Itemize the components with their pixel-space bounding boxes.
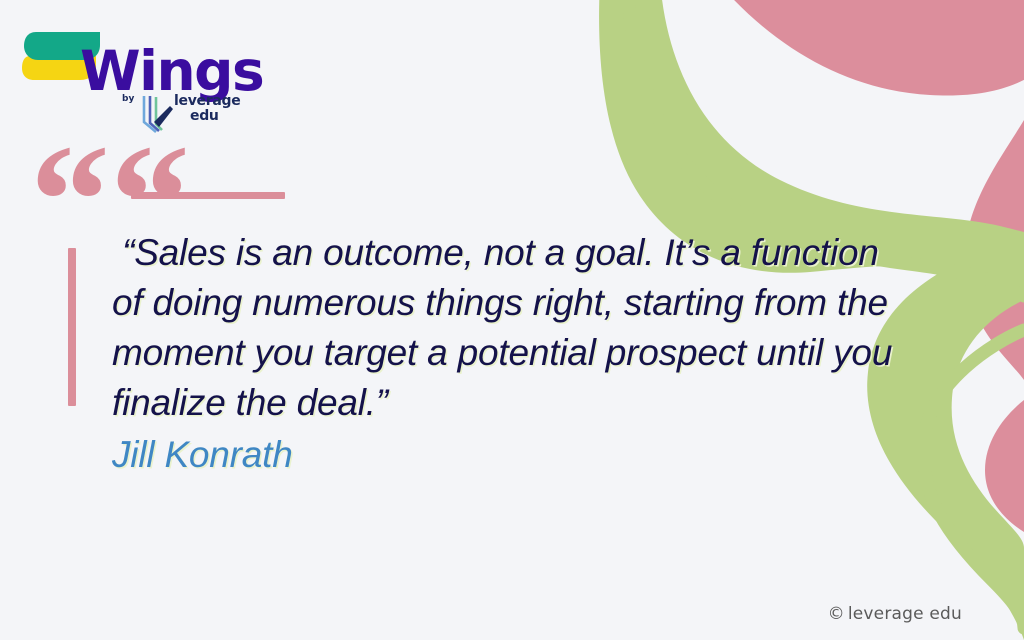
pink-blob-shape [700,0,1024,96]
pink-blob-shape-bottom [985,400,1024,532]
quote-author: Jill Konrath [112,430,902,480]
copyright-watermark: ©leverage edu [828,604,962,624]
watermark-label: leverage edu [848,604,962,624]
logo-by-label: by [122,94,134,104]
quote-text: “Sales is an outcome, not a goal. It’s a… [112,228,902,428]
sublogo-line-1: leverage [174,93,240,109]
accent-horizontal-rule [131,192,285,199]
quote-block: “Sales is an outcome, not a goal. It’s a… [112,228,902,480]
quote-card: Wings by leverage edu ““ “Sales is an ou… [0,0,1024,640]
copyright-icon: © [828,604,845,624]
accent-vertical-rule [68,248,76,406]
pink-blob-shape-lower [965,120,1024,380]
green-outline-stroke-lower [923,330,1024,628]
